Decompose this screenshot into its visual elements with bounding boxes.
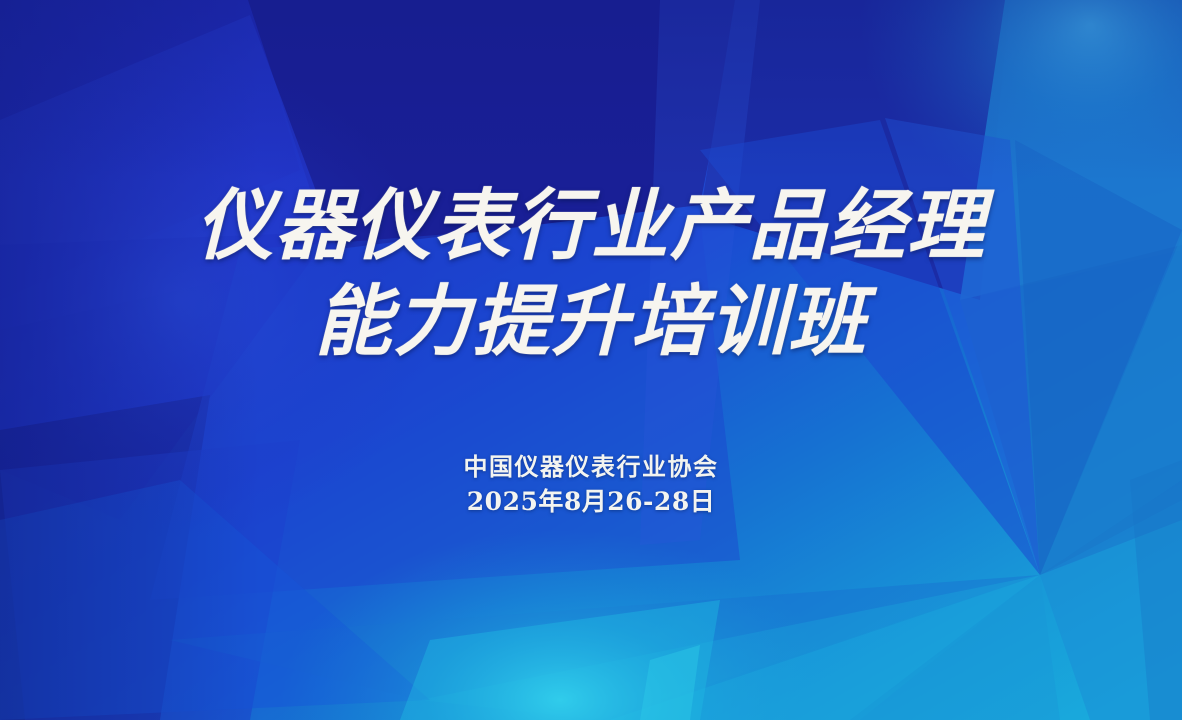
organizer-name: 中国仪器仪表行业协会 xyxy=(0,452,1182,482)
title-line-2: 能力提升培训班 xyxy=(0,277,1182,367)
title-line-1: 仪器仪表行业产品经理 xyxy=(0,181,1182,271)
event-poster: 仪器仪表行业产品经理 能力提升培训班 中国仪器仪表行业协会 2025年8月26-… xyxy=(0,0,1182,720)
event-date-range: 2025年8月26-28日 xyxy=(0,486,1182,517)
text-content: 仪器仪表行业产品经理 能力提升培训班 中国仪器仪表行业协会 2025年8月26-… xyxy=(0,0,1182,720)
